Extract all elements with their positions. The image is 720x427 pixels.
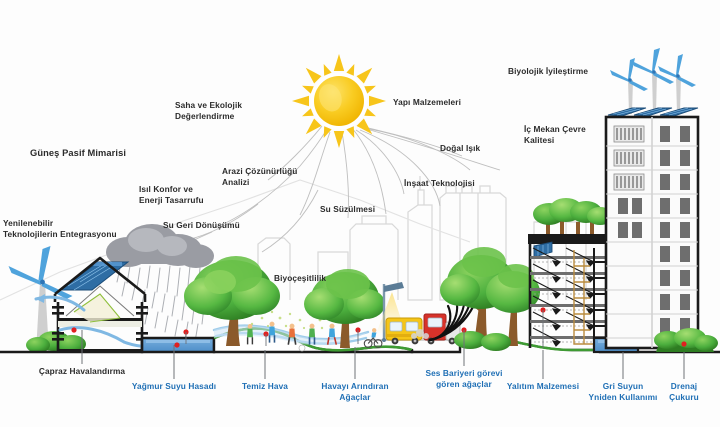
tower-louvered-windows (614, 126, 644, 190)
marker-dot-cross-ventilation (71, 327, 76, 332)
diagram-label-su-geri-donusumu: Su Geri Dönüşümü (163, 220, 240, 231)
diagram-label-biyolojik-iyilestirme: Biyolojik İyileştirme (508, 66, 588, 77)
marker-dot-drainage (681, 341, 686, 346)
diagram-label-insaat-teknolojisi: İnşaat Teknolojisi (404, 178, 475, 189)
sun-icon (273, 35, 406, 168)
callout-label-temiz-hava: Temiz Hava (242, 381, 288, 392)
callout-label-ses-bariyeri: Ses Bariyeri görevi gören ağaçlar (425, 368, 502, 389)
tower-building (606, 48, 698, 348)
drainage-pit (654, 328, 718, 352)
callout-label-yalitim-malzemesi: Yalıtım Malzemesi (507, 381, 579, 392)
rooftop-garden (533, 198, 613, 234)
diagram-label-biyocesitlilik: Biyoçeşitlilik (274, 273, 326, 284)
mid-rise-building-section (528, 198, 613, 352)
diagram-label-arazi-cozunurlugu: Arazi Çözünürlüğü Analizi (222, 166, 297, 187)
diagram-label-yenilenebilir: Yenilenebilir Teknolojilerin Entegrasyon… (3, 218, 117, 239)
callout-label-drenaj-cukuru: Drenaj Çukuru (666, 381, 702, 402)
daylight-arrows (533, 248, 594, 346)
callout-label-yagmur-suyu-hasadi: Yağmur Suyu Hasadı (132, 381, 216, 392)
callout-label-havayi-arindiran: Havayı Arındıran Ağaçlar (321, 381, 388, 402)
diagram-label-gunes-pasif-mimarisi: Güneş Pasif Mimarisi (30, 148, 126, 160)
rainwater-basin (142, 338, 214, 352)
diagram-label-su-suzulmesi: Su Süzülmesi (320, 204, 375, 215)
diagram-label-ic-mekan-cevre: İç Mekan Çevre Kalitesi (524, 124, 586, 145)
rooftop-wind-turbines (610, 48, 696, 114)
marker-dot-rainwater (174, 342, 179, 347)
diagram-label-isil-konfor: Isıl Konfor ve Enerji Tasarrufu (139, 184, 204, 205)
diagram-label-dogal-isik: Doğal Işık (440, 143, 480, 154)
solar-panel-array-tower (608, 108, 698, 116)
infographic-canvas: Güneş Pasif MimarisiYenilenebilir Teknol… (0, 0, 720, 427)
diagram-label-saha-ve-ekolojik: Saha ve Ekolojik Değerlendirme (175, 100, 242, 121)
callout-label-gri-suyun: Gri Suyun Yniden Kullanımı (589, 381, 658, 402)
callout-label-capraz-havalandirma: Çapraz Havalandırma (39, 366, 125, 377)
diagram-label-yapi-malzemeleri: Yapı Malzemeleri (393, 97, 461, 108)
